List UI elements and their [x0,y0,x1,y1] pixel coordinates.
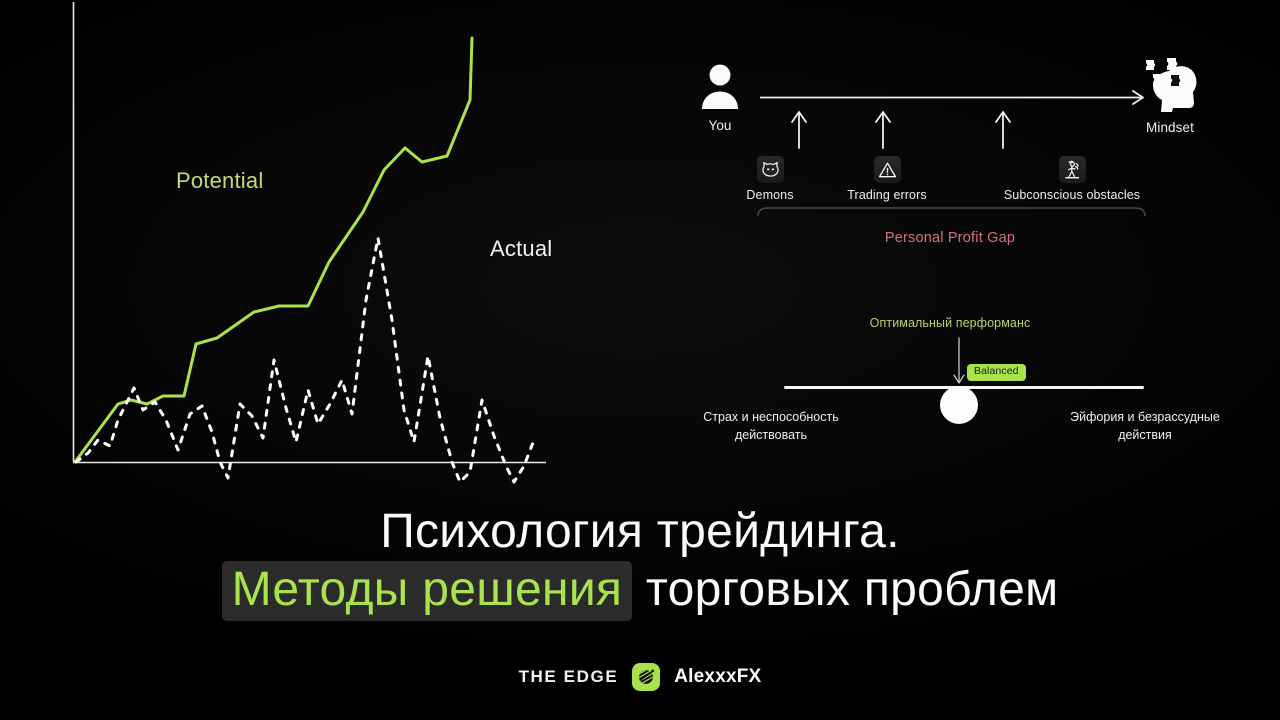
arrow-up-icon [876,112,890,148]
striped-planet-logo-icon [632,663,660,691]
arrow-down-icon [954,338,964,383]
title-line-2: Методы решения торговых проблем [0,563,1280,617]
performance-chart: Potential Actual [0,0,660,500]
balance-right-label: Эйфория и безрассудные действия [1060,408,1230,444]
arrow-up-icon [996,112,1010,148]
balance-right-line1: Эйфория и безрассудные [1070,410,1220,424]
arrow-up-icon [792,112,806,148]
title-line-1: Психология трейдинга. [0,505,1280,559]
balance-left-line1: Страх и неспособность [703,410,839,424]
devil-icon [757,156,784,183]
brand-the-edge: THE EDGE [519,667,619,687]
tangled-person-icon [1059,156,1086,183]
profit-gap-diagram: You Mindset [680,52,1220,262]
title-line-2-rest: торговых проблем [632,563,1058,616]
chart-label-potential: Potential [176,168,263,194]
slide-canvas: Potential Actual You [0,0,1280,720]
chart-svg [0,0,660,500]
footer-branding: THE EDGE AlexxxFX [0,663,1280,691]
gap-item-subconscious: Subconscious obstacles [964,156,1180,202]
potential-line [75,38,472,462]
balance-left-label: Страх и неспособность действовать [686,408,856,444]
balance-right-line2: действия [1118,428,1172,442]
balance-fulcrum [940,386,978,424]
slide-title: Психология трейдинга. Методы решения тор… [0,505,1280,617]
title-highlight: Методы решения [222,561,633,621]
actual-line [76,238,534,482]
gap-item-label: Subconscious obstacles [964,188,1180,202]
chart-label-actual: Actual [490,236,552,262]
warning-triangle-icon [874,156,901,183]
arrow-right-icon [760,91,1143,104]
balance-left-line2: действовать [735,428,807,442]
gap-caption: Personal Profit Gap [680,230,1220,246]
balance-diagram: Оптимальный перформанс Balanced Страх и … [680,300,1240,460]
gap-item-trading-errors: Trading errors [812,156,962,202]
brand-alexxxfx: AlexxxFX [674,666,761,688]
gap-item-label: Trading errors [812,188,962,202]
balanced-badge: Balanced [967,364,1026,381]
gap-obstacle-list: Demons Trading errors [758,156,1218,228]
